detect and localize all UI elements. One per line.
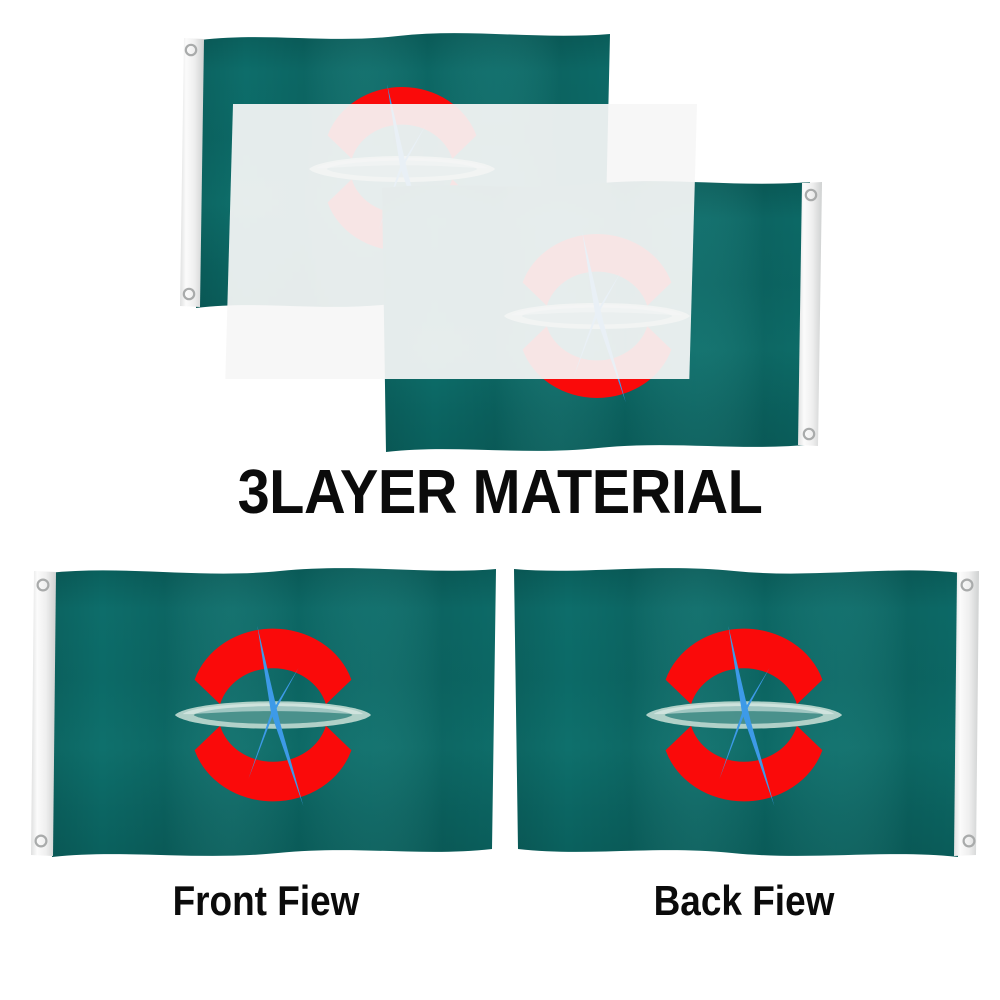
back-view-caption: Back Fiew xyxy=(536,880,951,922)
product-image-canvas: 3LAYER MATERIAL Front Fiew xyxy=(0,0,1000,1000)
three-layer-composite xyxy=(0,0,1000,465)
hoist-sleeve-left xyxy=(180,38,204,307)
hoist-sleeve-right xyxy=(954,571,979,856)
hoist-sleeve-left xyxy=(31,571,56,856)
hoist-sleeve-right xyxy=(798,182,822,446)
front-view-caption: Front Fiew xyxy=(58,880,473,922)
back-view-flag xyxy=(508,565,980,863)
front-view-flag xyxy=(30,565,502,863)
page-title: 3LAYER MATERIAL xyxy=(35,462,965,524)
middle-interlining-sheet xyxy=(225,104,697,379)
